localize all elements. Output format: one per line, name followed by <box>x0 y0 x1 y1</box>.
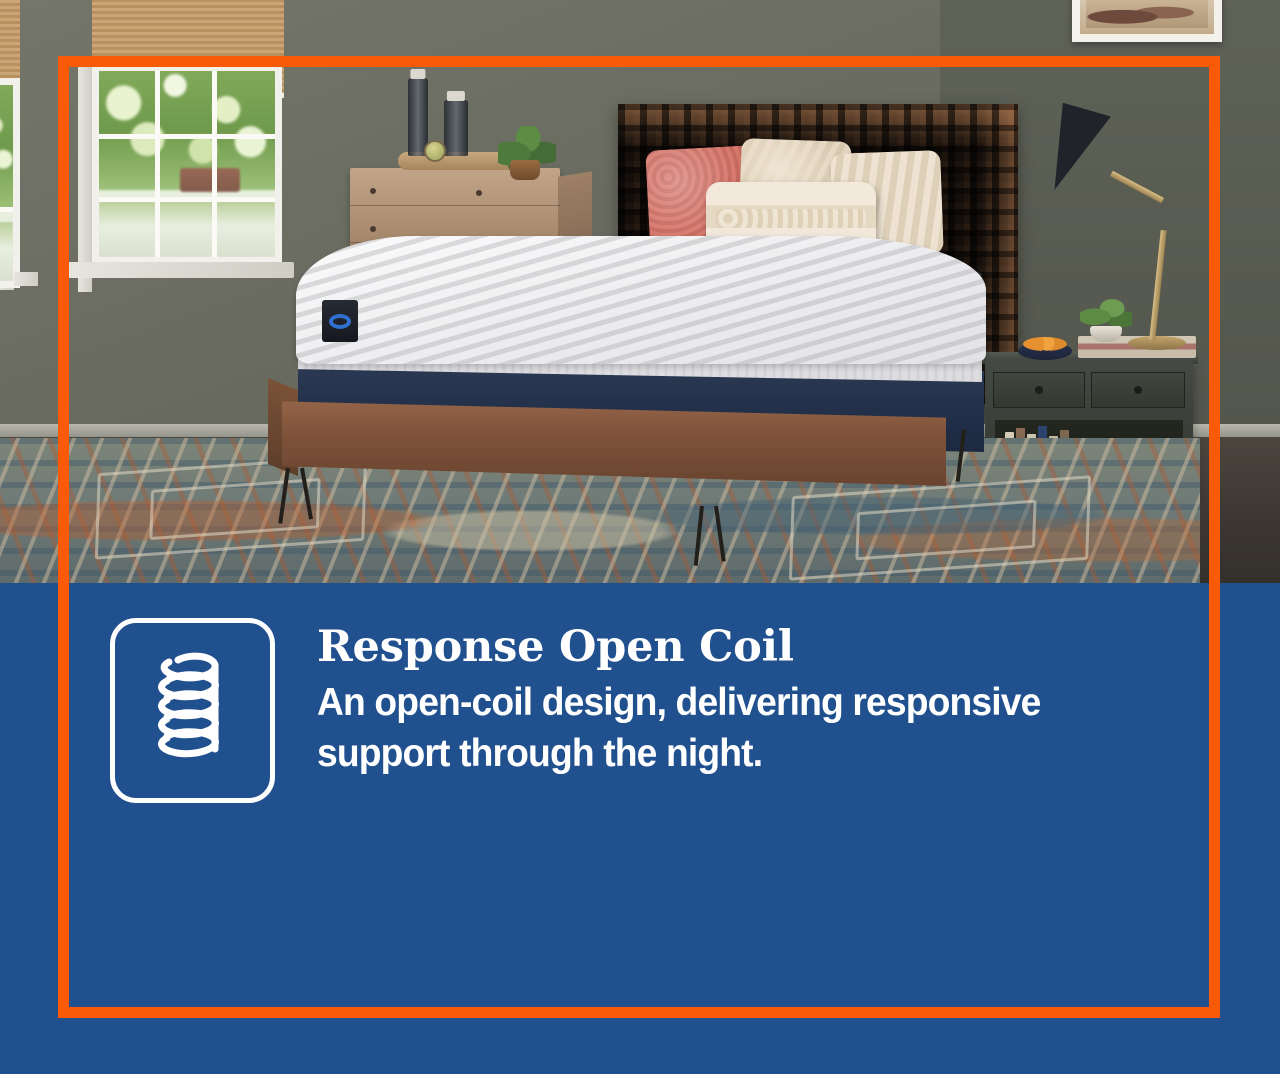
window-mullion <box>99 134 275 139</box>
coil-spring-glyph <box>147 649 239 773</box>
dresser-knob <box>370 188 376 194</box>
feature-headline: Response Open Coil <box>317 626 1140 670</box>
window-mullion <box>212 71 217 257</box>
feature-card: Response Open Coil An open-coil design, … <box>0 0 1280 1074</box>
feature-content: Response Open Coil An open-coil design, … <box>110 618 1140 803</box>
bottle-cap <box>447 91 465 101</box>
dresser-plant-pot <box>510 160 540 180</box>
window-car <box>180 168 240 192</box>
feature-subcopy: An open-coil design, delivering responsi… <box>317 678 1103 779</box>
dresser-knob <box>370 226 376 232</box>
lamp-base <box>1128 336 1186 350</box>
bottle-cap <box>410 69 425 79</box>
window-lawn <box>0 222 13 281</box>
window-foliage <box>0 78 17 210</box>
drawer-knob <box>1134 386 1142 394</box>
nightstand-drawer[interactable] <box>993 372 1085 408</box>
mattress-brand-tag <box>322 300 358 342</box>
nightstand-plant-pot <box>1090 326 1122 342</box>
window-sill-main <box>66 262 294 278</box>
dresser-drawer-line <box>350 205 560 206</box>
bedroom-mattress-photo <box>0 0 1280 583</box>
window-mullion <box>0 207 13 212</box>
window-mullion <box>155 71 160 257</box>
woven-blind-left <box>0 0 20 84</box>
window-lawn <box>99 201 275 257</box>
nightstand-drawer[interactable] <box>1091 372 1185 408</box>
dresser-knob <box>476 190 482 196</box>
decor-clock <box>424 140 446 162</box>
mattress-top <box>296 236 986 364</box>
feature-text: Response Open Coil An open-coil design, … <box>317 618 1140 779</box>
wall-art <box>1072 0 1222 42</box>
window-trim-main-left <box>78 56 92 292</box>
window-sill-left <box>14 272 38 286</box>
drawer-knob <box>1035 386 1043 394</box>
decor-bottle-short <box>444 100 468 156</box>
brand-ring-icon <box>329 314 351 329</box>
coil-spring-icon <box>110 618 275 803</box>
window-left <box>0 78 20 288</box>
window-main <box>92 64 282 264</box>
fruit-bowl <box>1018 342 1072 360</box>
headboard-highlight <box>618 104 1018 146</box>
window-mullion <box>99 197 275 202</box>
